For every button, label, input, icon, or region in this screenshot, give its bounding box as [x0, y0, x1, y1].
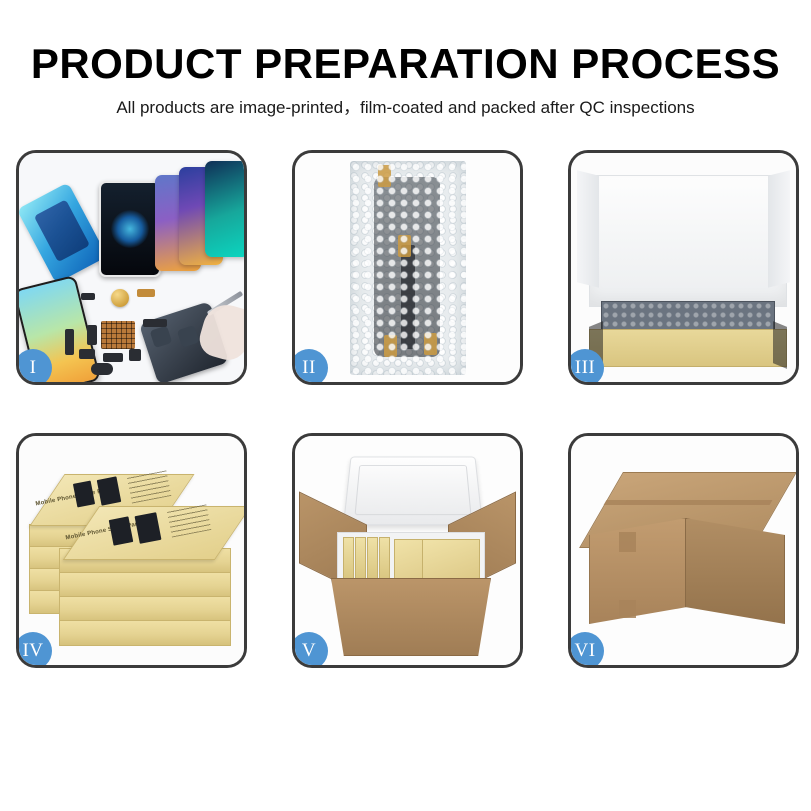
- carton-seam-icon: [604, 500, 773, 505]
- step-panel-6[interactable]: VI: [568, 433, 799, 668]
- small-part-icon: [91, 363, 113, 375]
- bubble-wrapped-screen-image: II: [295, 153, 520, 382]
- page-title: PRODUCT PREPARATION PROCESS: [0, 40, 811, 88]
- flex-cable-icon: [137, 289, 155, 297]
- step-panel-2[interactable]: II: [292, 150, 523, 385]
- gold-box-icon: [422, 539, 480, 581]
- open-gold-box-with-foam-image: III: [571, 153, 796, 382]
- lid-flap-left-icon: [577, 170, 599, 287]
- gold-box-icon: [59, 572, 231, 598]
- carton-front-panel-icon: [331, 578, 491, 656]
- stacked-gold-boxes-image: Mobile Phone Spare Parts Mobile Phone Sp…: [19, 436, 244, 665]
- copper-disc-part-icon: [111, 289, 129, 307]
- carton-left-panel-icon: [589, 518, 687, 624]
- page-subtitle: All products are image-printed，film-coat…: [0, 97, 811, 119]
- small-part-icon: [129, 349, 141, 361]
- carton-right-panel-icon: [685, 518, 785, 624]
- step-panel-4[interactable]: Mobile Phone Spare Parts Mobile Phone Sp…: [16, 433, 247, 668]
- small-part-icon: [143, 319, 167, 327]
- gold-box-edge-icon: [355, 537, 366, 583]
- small-part-icon: [79, 349, 95, 359]
- step-panel-3[interactable]: III: [568, 150, 799, 385]
- tape-patch-icon: [619, 600, 636, 618]
- bubble-wrap-bag-icon: [350, 161, 466, 375]
- black-phone-screen-icon: [99, 181, 161, 277]
- small-part-icon: [103, 353, 123, 362]
- white-box-lid-icon: [589, 175, 787, 307]
- foam-lid-icon: [343, 457, 483, 526]
- shield-mesh-part-icon: [101, 321, 135, 349]
- bubble-texture-icon: [350, 161, 466, 375]
- step-badge-6: VI: [571, 632, 604, 665]
- gold-box-stack-icon: Mobile Phone Spare Parts Mobile Phone Sp…: [19, 436, 244, 665]
- sealed-shipping-carton-image: VI: [571, 436, 796, 665]
- gold-box-edge-icon: [367, 537, 378, 583]
- process-steps-grid: I II III: [16, 150, 796, 668]
- lid-flap-right-icon: [768, 170, 790, 287]
- small-part-icon: [87, 325, 97, 345]
- gold-box-icon: [59, 596, 231, 622]
- step-panel-5[interactable]: V: [292, 433, 523, 668]
- gold-box-edge-icon: [343, 537, 354, 583]
- step-panel-1[interactable]: I: [16, 150, 247, 385]
- gold-box-icon: [59, 620, 231, 646]
- page-header: PRODUCT PREPARATION PROCESS All products…: [0, 0, 811, 119]
- step-badge-2: II: [295, 349, 328, 382]
- gold-box-edge-icon: [379, 537, 390, 583]
- teal-phone-icon: [205, 161, 244, 257]
- small-part-icon: [81, 293, 95, 300]
- tape-patch-icon: [619, 532, 636, 552]
- blue-screen-protector-icon: [19, 182, 107, 283]
- carton-with-foam-box-image: V: [295, 436, 520, 665]
- phone-screens-and-spare-parts-image: I: [19, 153, 244, 382]
- gold-box-base-icon: [589, 329, 787, 367]
- step-badge-5: V: [295, 632, 328, 665]
- small-part-icon: [65, 329, 74, 355]
- foam-box-interior-icon: [337, 532, 485, 586]
